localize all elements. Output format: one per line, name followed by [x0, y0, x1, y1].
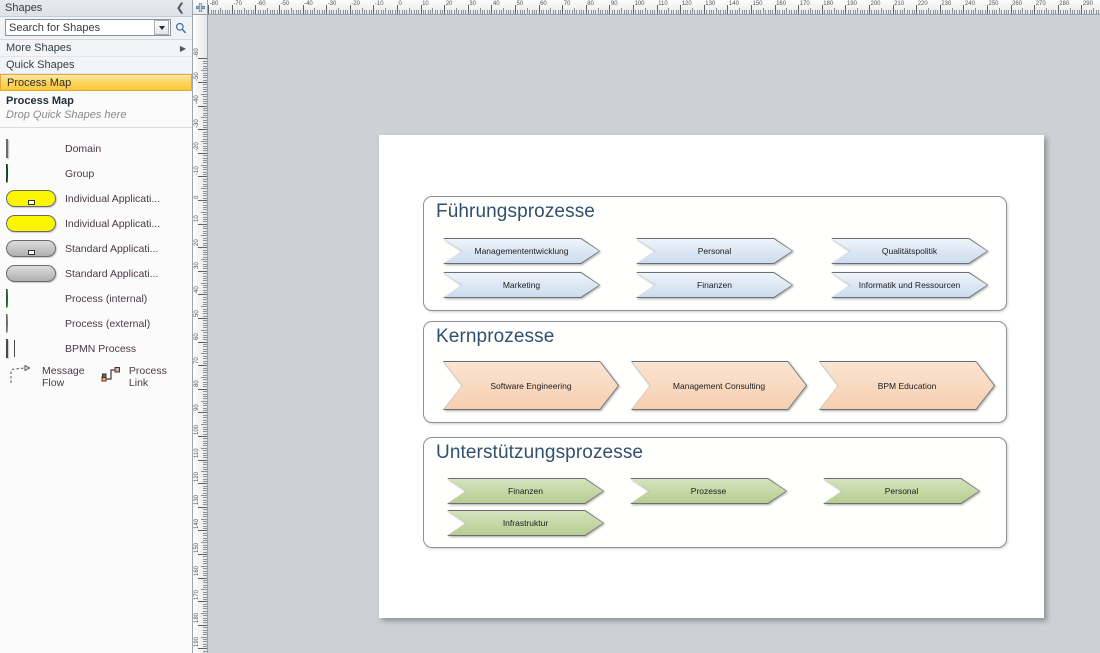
ruler-tick	[203, 486, 207, 487]
ruler-tick	[203, 639, 207, 640]
ruler-tick	[395, 10, 396, 14]
ruler-tick	[588, 10, 589, 14]
ruler-label: 150	[194, 542, 200, 552]
ruler-tick	[779, 10, 780, 14]
ruler-tick	[203, 622, 207, 623]
sidebar-item-more-shapes[interactable]: More Shapes ▶	[0, 40, 192, 57]
section-title: Kernprozesse	[436, 326, 554, 348]
ruler-tick	[867, 10, 868, 14]
ruler-tick	[685, 10, 686, 14]
ruler-tick	[203, 245, 207, 246]
ruler-label: 40	[194, 286, 200, 293]
ruler-tick	[203, 370, 207, 371]
ruler-tick	[203, 99, 207, 100]
ruler-tick	[203, 606, 207, 607]
ruler-tick	[1006, 10, 1007, 14]
ruler-tick	[203, 96, 207, 97]
list-item[interactable]: Individual Applicati...	[0, 187, 192, 212]
ruler-tick	[203, 254, 207, 255]
ruler-tick	[203, 386, 207, 387]
ruler-tick	[612, 10, 613, 14]
ruler-tick	[753, 10, 754, 14]
ruler-tick	[203, 202, 207, 203]
ruler-label: -10	[194, 166, 200, 175]
vertical-ruler[interactable]: -60-50-40-30-20-100102030405060708090100…	[193, 15, 208, 653]
ruler-tick	[203, 415, 207, 416]
ruler-label: 200	[871, 1, 881, 7]
ruler-tick	[203, 309, 207, 310]
ruler-label: 260	[1012, 1, 1022, 7]
ruler-tick	[725, 10, 726, 14]
ruler-tick	[296, 10, 297, 14]
ruler-tick	[664, 10, 665, 14]
ruler-tick	[270, 10, 271, 14]
ruler-tick	[203, 443, 207, 444]
ruler-tick	[827, 10, 828, 14]
ruler-tick	[572, 10, 573, 14]
ruler-tick	[203, 410, 207, 411]
ruler-tick	[758, 10, 759, 14]
search-icon[interactable]	[174, 22, 188, 34]
ruler-tick	[338, 8, 339, 14]
ruler-tick	[203, 408, 207, 409]
search-box[interactable]	[5, 19, 171, 36]
ruler-tick	[198, 483, 207, 484]
ruler-tick	[593, 10, 594, 14]
ruler-tick	[293, 10, 294, 14]
ruler-tick	[1004, 10, 1005, 14]
ruler-tick	[234, 10, 235, 14]
ruler-tick	[742, 10, 743, 14]
ruler-label: 60	[540, 1, 547, 7]
ruler-tick	[203, 169, 207, 170]
ruler-tick	[203, 384, 207, 385]
sidebar-item-process-map[interactable]: Process Map	[0, 74, 192, 91]
ruler-tick	[548, 10, 549, 14]
ruler-tick	[203, 391, 207, 392]
ruler-tick	[203, 429, 207, 430]
ruler-tick	[414, 10, 415, 14]
ruler-tick	[782, 10, 783, 14]
ruler-tick	[527, 8, 528, 14]
ruler-tick	[897, 10, 898, 14]
individual-application-locked-shape-icon	[6, 190, 58, 210]
ruler-tick	[203, 122, 207, 123]
ruler-tick	[203, 160, 207, 161]
ruler-label: 290	[1083, 1, 1093, 7]
process-shape[interactable]: Managemententwicklung	[443, 238, 600, 264]
connector-list: Message Flow Process Link	[0, 362, 192, 393]
ruler-tick	[789, 10, 790, 14]
ruler-tick	[985, 10, 986, 14]
ruler-tick	[583, 10, 584, 14]
ruler-tick	[595, 10, 596, 14]
ruler-tick	[203, 344, 207, 345]
ruler-tick	[222, 10, 223, 14]
ruler-tick	[1048, 10, 1049, 14]
ruler-tick	[994, 10, 995, 14]
ruler-tick	[402, 10, 403, 14]
ruler-tick	[198, 507, 207, 508]
ruler-tick	[805, 10, 806, 14]
ruler-tick	[923, 10, 924, 14]
ruler-tick	[501, 10, 502, 14]
list-item[interactable]: BPMN Process	[0, 337, 192, 362]
ruler-origin-corner[interactable]	[193, 0, 208, 15]
ruler-tick	[440, 10, 441, 14]
ruler-tick	[203, 504, 207, 505]
ruler-tick	[203, 115, 207, 116]
ruler-tick	[699, 10, 700, 14]
ruler-tick	[909, 10, 910, 14]
ruler-tick	[203, 394, 207, 395]
ruler-tick	[203, 535, 207, 536]
ruler-label: 170	[194, 590, 200, 600]
ruler-tick	[203, 481, 207, 482]
ruler-tick	[503, 8, 504, 14]
ruler-tick	[687, 10, 688, 14]
ruler-tick	[461, 10, 462, 14]
ruler-tick	[959, 10, 960, 14]
ruler-tick	[794, 10, 795, 14]
ruler-tick	[203, 427, 207, 428]
ruler-tick	[198, 271, 207, 272]
ruler-tick	[203, 618, 207, 619]
collapse-panel-icon[interactable]: ❮	[174, 3, 187, 14]
shape-label: Domain	[65, 144, 101, 156]
ruler-tick	[838, 10, 839, 14]
ruler-tick	[631, 10, 632, 14]
shapes-panel: Shapes ❮ More Shapes ▶ Quick Shapes Proc…	[0, 0, 193, 653]
bpmn-process-shape-icon	[6, 340, 58, 360]
ruler-tick	[203, 571, 207, 572]
ruler-label: 80	[194, 381, 200, 388]
ruler-tick	[203, 181, 207, 182]
list-item-process-link[interactable]: Process Link	[101, 365, 188, 390]
ruler-label: 130	[194, 495, 200, 505]
ruler-tick	[203, 91, 207, 92]
ruler-label: 190	[194, 637, 200, 647]
list-item[interactable]: Standard Applicati...	[0, 262, 192, 287]
ruler-tick	[201, 94, 207, 95]
ruler-tick	[1022, 8, 1023, 14]
process-shape[interactable]: Finanzen	[636, 272, 793, 298]
ruler-tick	[447, 10, 448, 14]
ruler-tick	[711, 10, 712, 14]
ruler-label: 130	[705, 1, 715, 7]
ruler-tick	[697, 10, 698, 14]
ruler-tick	[319, 10, 320, 14]
ruler-tick	[871, 10, 872, 14]
ruler-tick	[937, 10, 938, 14]
message-flow-icon	[6, 365, 36, 390]
ruler-tick	[203, 335, 207, 336]
list-item[interactable]: Domain	[0, 137, 192, 162]
shape-label: BPM Education	[872, 381, 943, 391]
ruler-tick	[203, 441, 207, 442]
ruler-tick	[272, 10, 273, 14]
ruler-tick	[203, 191, 207, 192]
shape-label: BPMN Process	[65, 344, 136, 356]
ruler-tick	[645, 8, 646, 14]
ruler-tick	[418, 10, 419, 14]
ruler-tick	[1091, 10, 1092, 14]
ruler-label: 140	[194, 519, 200, 529]
shape-label: Process (external)	[65, 319, 150, 331]
ruler-tick	[978, 10, 979, 14]
ruler-tick	[650, 10, 651, 14]
ruler-label: 10	[422, 1, 429, 7]
ruler-tick	[203, 195, 207, 196]
ruler-tick	[198, 58, 207, 59]
ruler-tick	[265, 10, 266, 14]
ruler-tick	[203, 549, 207, 550]
ruler-tick	[291, 8, 292, 14]
ruler-tick	[203, 63, 207, 64]
ruler-tick	[1039, 10, 1040, 14]
ruler-tick	[404, 10, 405, 14]
ruler-label: 180	[194, 613, 200, 623]
ruler-tick	[803, 10, 804, 14]
ruler-tick	[198, 106, 207, 107]
ruler-label: 30	[194, 263, 200, 270]
ruler-tick	[458, 10, 459, 14]
process-shape[interactable]: Personal	[636, 238, 793, 264]
ruler-tick	[203, 552, 207, 553]
ruler-tick	[1079, 10, 1080, 14]
process-shape[interactable]: BPM Education	[819, 361, 995, 410]
ruler-tick	[203, 304, 207, 305]
drawing-canvas[interactable]: Führungsprozesse Managemententwicklung P…	[208, 15, 1100, 653]
sidebar-item-quick-shapes[interactable]: Quick Shapes	[0, 57, 192, 74]
ruler-tick	[198, 389, 207, 390]
ruler-tick	[954, 10, 955, 14]
ruler-tick	[619, 10, 620, 14]
process-shape[interactable]: Qualitätspolitik	[831, 238, 988, 264]
ruler-tick	[848, 10, 849, 14]
ruler-tick	[836, 10, 837, 14]
shape-label: Process (internal)	[65, 294, 147, 306]
ruler-tick	[203, 363, 207, 364]
ruler-tick	[352, 10, 353, 14]
ruler-tick	[933, 10, 934, 14]
process-shape[interactable]: Management Consulting	[631, 361, 807, 410]
ruler-tick	[996, 10, 997, 14]
ruler-tick	[968, 10, 969, 14]
ruler-tick	[203, 575, 207, 576]
ruler-tick	[454, 10, 455, 14]
ruler-tick	[966, 10, 967, 14]
search-input[interactable]	[6, 20, 154, 35]
ruler-label: 100	[194, 424, 200, 434]
ruler-tick	[201, 283, 207, 284]
ruler-tick	[203, 545, 207, 546]
process-shape[interactable]: Infrastruktur	[447, 510, 604, 536]
shape-label: Personal	[692, 246, 738, 256]
horizontal-ruler[interactable]: -80-70-60-50-40-30-20-100102030405060708…	[208, 0, 1100, 15]
ruler-tick	[201, 353, 207, 354]
ruler-tick	[203, 113, 207, 114]
ruler-tick	[201, 212, 207, 213]
ruler-tick	[203, 80, 207, 81]
ruler-label: 90	[194, 404, 200, 411]
ruler-tick	[694, 10, 695, 14]
ruler-tick	[198, 412, 207, 413]
ruler-tick	[203, 84, 207, 85]
ruler-tick	[720, 10, 721, 14]
ruler-tick	[307, 10, 308, 14]
process-shape[interactable]: Finanzen	[447, 478, 604, 504]
ruler-label: 0	[194, 195, 200, 198]
ruler-tick	[201, 613, 207, 614]
ruler-tick	[607, 10, 608, 14]
ruler-label: 70	[194, 357, 200, 364]
ruler-tick	[220, 8, 221, 14]
ruler-tick	[246, 10, 247, 14]
ruler-tick	[203, 563, 207, 564]
list-item-message-flow[interactable]: Message Flow	[6, 365, 97, 390]
ruler-tick	[322, 10, 323, 14]
shape-label: Individual Applicati...	[65, 194, 160, 206]
ruler-tick	[735, 10, 736, 14]
ruler-label: 180	[823, 1, 833, 7]
ruler-tick	[203, 68, 207, 69]
ruler-tick	[671, 10, 672, 14]
ruler-tick	[203, 250, 207, 251]
ruler-tick	[1096, 10, 1097, 14]
ruler-tick	[203, 620, 207, 621]
ruler-tick	[921, 10, 922, 14]
ruler-tick	[203, 332, 207, 333]
section-kernprozesse[interactable]: Kernprozesse Software Engineering Manage…	[423, 321, 1007, 423]
ruler-tick	[1025, 10, 1026, 14]
ruler-tick	[536, 10, 537, 14]
ruler-tick	[203, 108, 207, 109]
ruler-tick	[203, 207, 207, 208]
ruler-tick	[203, 238, 207, 239]
ruler-tick	[355, 10, 356, 14]
ruler-label: -60	[194, 48, 200, 57]
ruler-tick	[416, 10, 417, 14]
ruler-tick	[203, 502, 207, 503]
ruler-label: 270	[1036, 1, 1046, 7]
ruler-tick	[701, 10, 702, 14]
process-shape[interactable]: Software Engineering	[443, 361, 619, 410]
ruler-tick	[524, 10, 525, 14]
process-shape[interactable]: Personal	[823, 478, 980, 504]
ruler-label: 120	[194, 472, 200, 482]
ruler-tick	[362, 8, 363, 14]
ruler-tick	[661, 10, 662, 14]
process-shape[interactable]: Informatik und Ressourcen	[831, 272, 988, 298]
ruler-tick	[1072, 10, 1073, 14]
ruler-tick	[203, 582, 207, 583]
ruler-tick	[1001, 10, 1002, 14]
ruler-tick	[449, 10, 450, 14]
ruler-tick	[980, 10, 981, 14]
ruler-label: 190	[847, 1, 857, 7]
ruler-tick	[288, 10, 289, 14]
section-unterstuetzungsprozesse[interactable]: Unterstützungsprozesse Finanzen Prozesse…	[423, 437, 1007, 548]
ruler-tick	[744, 10, 745, 14]
ruler-tick	[683, 10, 684, 14]
ruler-label: 160	[194, 566, 200, 576]
ruler-tick	[203, 327, 207, 328]
ruler-tick	[203, 228, 207, 229]
list-item[interactable]: Standard Applicati...	[0, 237, 192, 262]
ruler-label: 120	[682, 1, 692, 7]
list-item[interactable]: Process (internal)	[0, 287, 192, 312]
ruler-tick	[203, 158, 207, 159]
ruler-tick	[853, 10, 854, 14]
ruler-tick	[203, 349, 207, 350]
ruler-tick	[198, 554, 207, 555]
ruler-tick	[1032, 10, 1033, 14]
ruler-tick	[1086, 10, 1087, 14]
ruler-label: -50	[281, 1, 290, 7]
ruler-tick	[1063, 10, 1064, 14]
ruler-tick	[812, 10, 813, 14]
ruler-tick	[203, 457, 207, 458]
ruler-tick	[971, 10, 972, 14]
ruler-tick	[366, 10, 367, 14]
ruler-tick	[198, 530, 207, 531]
list-item[interactable]: Group	[0, 162, 192, 187]
ruler-tick	[605, 10, 606, 14]
ruler-tick	[1070, 8, 1071, 14]
connector-label: Process Link	[129, 366, 188, 389]
ruler-tick	[203, 193, 207, 194]
ruler-tick	[1067, 10, 1068, 14]
process-shape[interactable]: Marketing	[443, 272, 600, 298]
process-shape[interactable]: Prozesse	[630, 478, 787, 504]
ruler-tick	[345, 10, 346, 14]
section-title: Führungsprozesse	[436, 201, 595, 223]
ruler-tick	[201, 401, 207, 402]
ruler-tick	[883, 10, 884, 14]
ruler-tick	[203, 398, 207, 399]
section-fuehrungsprozesse[interactable]: Führungsprozesse Managemententwicklung P…	[423, 196, 1007, 311]
search-dropdown-button[interactable]	[154, 20, 169, 35]
ruler-tick	[203, 547, 207, 548]
ruler-label: 110	[658, 1, 668, 7]
ruler-tick	[201, 141, 207, 142]
ruler-tick	[203, 221, 207, 222]
ruler-tick	[517, 10, 518, 14]
drawing-page[interactable]: Führungsprozesse Managemententwicklung P…	[379, 135, 1044, 618]
ruler-tick	[203, 346, 207, 347]
ruler-tick	[203, 292, 207, 293]
ruler-tick	[203, 467, 207, 468]
ruler-tick	[203, 325, 207, 326]
ruler-tick	[203, 148, 207, 149]
ruler-tick	[808, 10, 809, 14]
ruler-tick	[392, 10, 393, 14]
ruler-tick	[203, 120, 207, 121]
ruler-tick	[300, 10, 301, 14]
ruler-label: -30	[194, 119, 200, 128]
ruler-tick	[640, 10, 641, 14]
process-link-icon	[101, 365, 123, 390]
ruler-tick	[274, 10, 275, 14]
process-external-shape-icon	[6, 315, 58, 335]
list-item[interactable]: Individual Applicati...	[0, 212, 192, 237]
ruler-tick	[543, 10, 544, 14]
ruler-tick	[546, 10, 547, 14]
list-item[interactable]: Process (external)	[0, 312, 192, 337]
ruler-tick	[442, 10, 443, 14]
ruler-label: 70	[564, 1, 571, 7]
